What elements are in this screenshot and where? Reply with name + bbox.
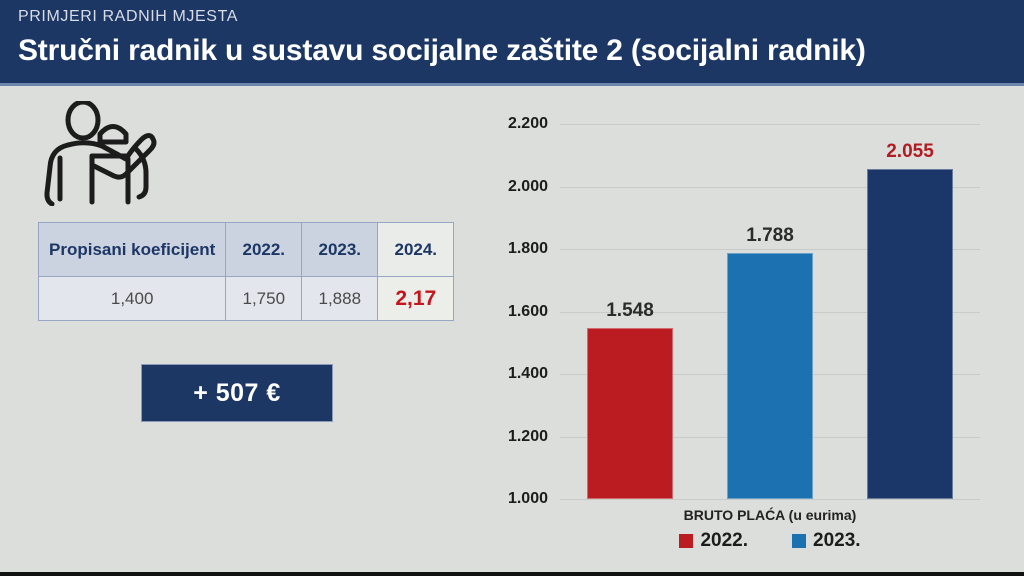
table-cell-2: 1,888: [302, 277, 378, 321]
page-title: Stručni radnik u sustavu socijalne zašti…: [18, 28, 1024, 74]
chart-y-tick-label: 1.000: [458, 490, 548, 508]
chart-legend-item: 2023.: [792, 530, 861, 552]
chart-gridline: [560, 499, 980, 500]
slide-root: PRIMJERI RADNIH MJESTA Stručni radnik u …: [0, 0, 1024, 576]
slide-header: PRIMJERI RADNIH MJESTA Stručni radnik u …: [0, 0, 1024, 86]
chart-legend-item: 2022.: [679, 530, 748, 552]
legend-label: 2022.: [700, 530, 748, 552]
salary-increase-badge: + 507 €: [141, 364, 333, 422]
table-row: 1,400 1,750 1,888 2,17: [39, 277, 454, 321]
table-header-cell-1: 2022.: [226, 223, 302, 277]
table-cell-0: 1,400: [39, 277, 226, 321]
table-cell-3: 2,17: [378, 277, 454, 321]
table-header-row: Propisani koeficijent 2022. 2023. 2024.: [39, 223, 454, 277]
chart-bar-value-label: 2.055: [867, 141, 953, 163]
table-header-cell-2: 2023.: [302, 223, 378, 277]
chart-bar: 2.055: [867, 124, 953, 499]
legend-color-swatch: [792, 534, 806, 548]
table-header-cell-0: Propisani koeficijent: [39, 223, 226, 277]
chart-bar-value-label: 1.548: [587, 300, 673, 322]
chart-y-tick-label: 1.600: [458, 303, 548, 321]
chart-y-tick-label: 2.000: [458, 178, 548, 196]
chart-bar-rect: [867, 169, 953, 499]
chart-plot-area: 1.0001.2001.4001.6001.8002.0002.2001.548…: [560, 124, 980, 499]
chart-legend: 2022.2023.: [560, 530, 980, 552]
coefficient-table: Propisani koeficijent 2022. 2023. 2024. …: [38, 222, 454, 321]
chart-bar: 1.548: [587, 124, 673, 499]
chart-bar-value-label: 1.788: [727, 225, 813, 247]
salary-bar-chart: 1.0001.2001.4001.6001.8002.0002.2001.548…: [470, 89, 1024, 576]
chart-bar-rect: [587, 328, 673, 499]
table-cell-1: 1,750: [226, 277, 302, 321]
chart-bar: 1.788: [727, 124, 813, 499]
chart-y-tick-label: 1.200: [458, 428, 548, 446]
chart-y-tick-label: 2.200: [458, 115, 548, 133]
table-header-cell-3: 2024.: [378, 223, 454, 277]
two-people-support-icon: [38, 101, 178, 206]
chart-y-tick-label: 1.400: [458, 365, 548, 383]
chart-x-caption: BRUTO PLAĆA (u eurima): [560, 507, 980, 523]
chart-bar-rect: [727, 253, 813, 499]
legend-color-swatch: [679, 534, 693, 548]
legend-label: 2023.: [813, 530, 861, 552]
bottom-strip: [0, 572, 1024, 576]
chart-y-tick-label: 1.800: [458, 240, 548, 258]
left-panel: Propisani koeficijent 2022. 2023. 2024. …: [0, 89, 470, 576]
header-kicker: PRIMJERI RADNIH MJESTA: [18, 6, 1024, 28]
